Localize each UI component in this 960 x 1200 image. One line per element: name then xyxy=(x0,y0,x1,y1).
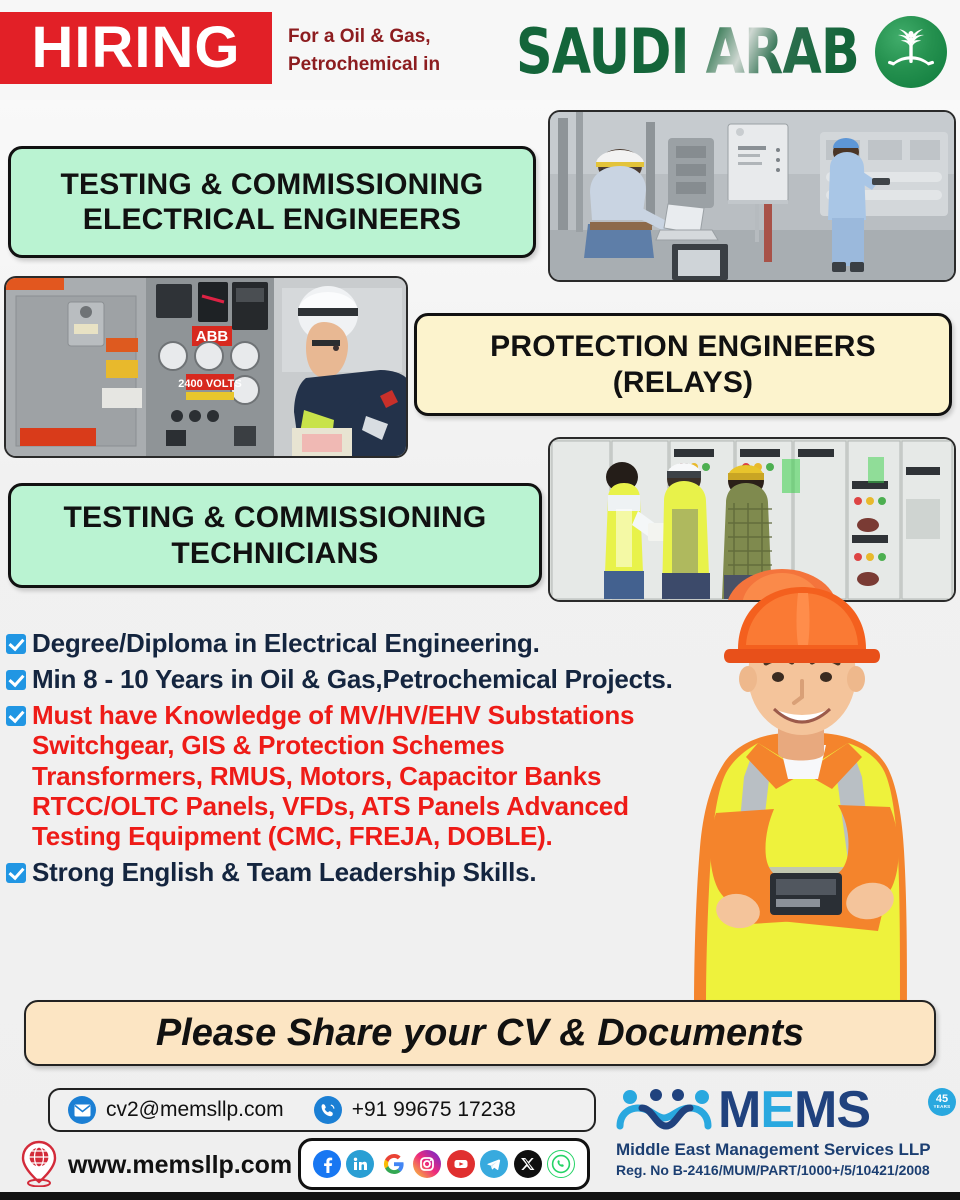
requirement-text: Min 8 - 10 Years in Oil & Gas,Petrochemi… xyxy=(32,664,673,694)
checkmark-icon xyxy=(6,706,26,726)
requirement-item: Must have Knowledge of MV/HV/EHV Substat… xyxy=(6,700,678,851)
requirements-list: Degree/Diploma in Electrical Engineering… xyxy=(6,628,678,893)
hiring-poster: HIRING For a Oil & Gas, Petrochemical in… xyxy=(0,0,960,1200)
position-protection-engineers: PROTECTION ENGINEERS(RELAYS) xyxy=(414,313,952,416)
country-label: SAUDI ARABIA xyxy=(516,16,861,86)
requirement-text: Strong English & Team Leadership Skills. xyxy=(32,857,536,887)
phone-glyph xyxy=(320,1102,336,1118)
svg-text:2400 VOLTS: 2400 VOLTS xyxy=(178,378,241,390)
poster-header: HIRING For a Oil & Gas, Petrochemical in… xyxy=(0,0,960,100)
position-label: TESTING & COMMISSIONINGELECTRICAL ENGINE… xyxy=(61,167,484,238)
photo-testing-commissioning xyxy=(548,110,956,282)
cta-banner: Please Share your CV & Documents xyxy=(24,1000,936,1066)
position-line1: TESTING & COMMISSIONING xyxy=(64,501,487,534)
position-testing-commissioning-engineers: TESTING & COMMISSIONINGELECTRICAL ENGINE… xyxy=(8,146,536,258)
cta-label: Please Share your CV & Documents xyxy=(156,1012,804,1055)
header-subtitle: For a Oil & Gas, Petrochemical in xyxy=(288,23,513,78)
social-links-bar xyxy=(298,1138,590,1190)
mems-infinity-people-glyph xyxy=(616,1086,712,1132)
hiring-label: HIRING xyxy=(32,19,241,77)
photo-testing-illustration xyxy=(550,112,954,280)
company-full-name: Middle East Management Services LLP xyxy=(616,1140,931,1160)
globe-pin-glyph xyxy=(18,1139,60,1187)
photo-switchgear-illustration: ABB 2400 VOLTS xyxy=(6,278,406,456)
youtube-glyph xyxy=(452,1155,470,1173)
position-line1: PROTECTION ENGINEERS xyxy=(490,330,876,363)
anniversary-badge: 45 YEARS xyxy=(928,1088,956,1116)
youtube-icon[interactable] xyxy=(447,1150,475,1178)
company-logo-block: MEMS 45 YEARS Middle East Management Ser… xyxy=(608,1082,956,1188)
google-glyph xyxy=(382,1152,406,1176)
position-line2: TECHNICIANS xyxy=(171,537,378,570)
palm-and-swords-icon xyxy=(884,23,938,81)
country-wordmark: SAUDI ARABIA xyxy=(516,16,861,86)
worker-illustration xyxy=(646,567,960,1007)
company-wordmark: MEMS xyxy=(718,1084,870,1136)
location-pin-icon xyxy=(18,1139,60,1192)
position-line1: TESTING & COMMISSIONING xyxy=(61,168,484,201)
mems-logo-icon xyxy=(616,1086,712,1137)
facebook-glyph xyxy=(318,1155,336,1173)
phone-contact[interactable]: +91 99675 17238 xyxy=(314,1096,516,1124)
checkmark-icon xyxy=(6,863,26,883)
requirement-text: Degree/Diploma in Electrical Engineering… xyxy=(32,628,540,658)
google-icon[interactable] xyxy=(380,1150,408,1178)
x-glyph xyxy=(520,1156,536,1172)
position-testing-commissioning-technicians: TESTING & COMMISSIONINGTECHNICIANS xyxy=(8,483,542,588)
requirement-item: Strong English & Team Leadership Skills. xyxy=(6,857,678,887)
phone-icon xyxy=(314,1096,342,1124)
contact-bar: cv2@memsllp.com +91 99675 17238 xyxy=(48,1088,596,1132)
photo-worker-cutout xyxy=(646,567,960,1007)
whatsapp-icon[interactable] xyxy=(547,1150,575,1178)
linkedin-icon[interactable] xyxy=(346,1150,374,1178)
envelope-icon xyxy=(68,1096,96,1124)
x-twitter-icon[interactable] xyxy=(514,1150,542,1178)
email-address: cv2@memsllp.com xyxy=(106,1098,284,1122)
poster-footer: cv2@memsllp.com +91 99675 17238 xyxy=(0,1078,960,1200)
requirement-item: Min 8 - 10 Years in Oil & Gas,Petrochemi… xyxy=(6,664,678,694)
email-contact[interactable]: cv2@memsllp.com xyxy=(68,1096,284,1124)
saudi-arabia-emblem-icon xyxy=(875,16,947,88)
whatsapp-glyph xyxy=(551,1154,571,1174)
telegram-icon[interactable] xyxy=(480,1150,508,1178)
photo-switchgear-panel: ABB 2400 VOLTS xyxy=(4,276,408,458)
requirement-text: Must have Knowledge of MV/HV/EHV Substat… xyxy=(32,700,678,851)
badge-label: YEARS xyxy=(933,1105,950,1110)
position-label: TESTING & COMMISSIONINGTECHNICIANS xyxy=(64,500,487,571)
requirement-item: Degree/Diploma in Electrical Engineering… xyxy=(6,628,678,658)
facebook-icon[interactable] xyxy=(313,1150,341,1178)
envelope-glyph xyxy=(74,1104,91,1117)
company-registration: Reg. No B-2416/MUM/PART/1000+/5/10421/20… xyxy=(616,1162,930,1178)
footer-divider xyxy=(0,1192,960,1200)
position-line2: (RELAYS) xyxy=(613,366,754,399)
position-label: PROTECTION ENGINEERS(RELAYS) xyxy=(490,329,876,400)
position-line2: ELECTRICAL ENGINEERS xyxy=(83,203,462,236)
telegram-glyph xyxy=(485,1155,503,1173)
phone-number: +91 99675 17238 xyxy=(352,1098,516,1122)
linkedin-glyph xyxy=(351,1155,369,1173)
hiring-banner: HIRING xyxy=(0,12,272,84)
checkmark-icon xyxy=(6,670,26,690)
website-url: www.memsllp.com xyxy=(68,1151,292,1180)
instagram-icon[interactable] xyxy=(413,1150,441,1178)
checkmark-icon xyxy=(6,634,26,654)
instagram-glyph xyxy=(418,1155,436,1173)
